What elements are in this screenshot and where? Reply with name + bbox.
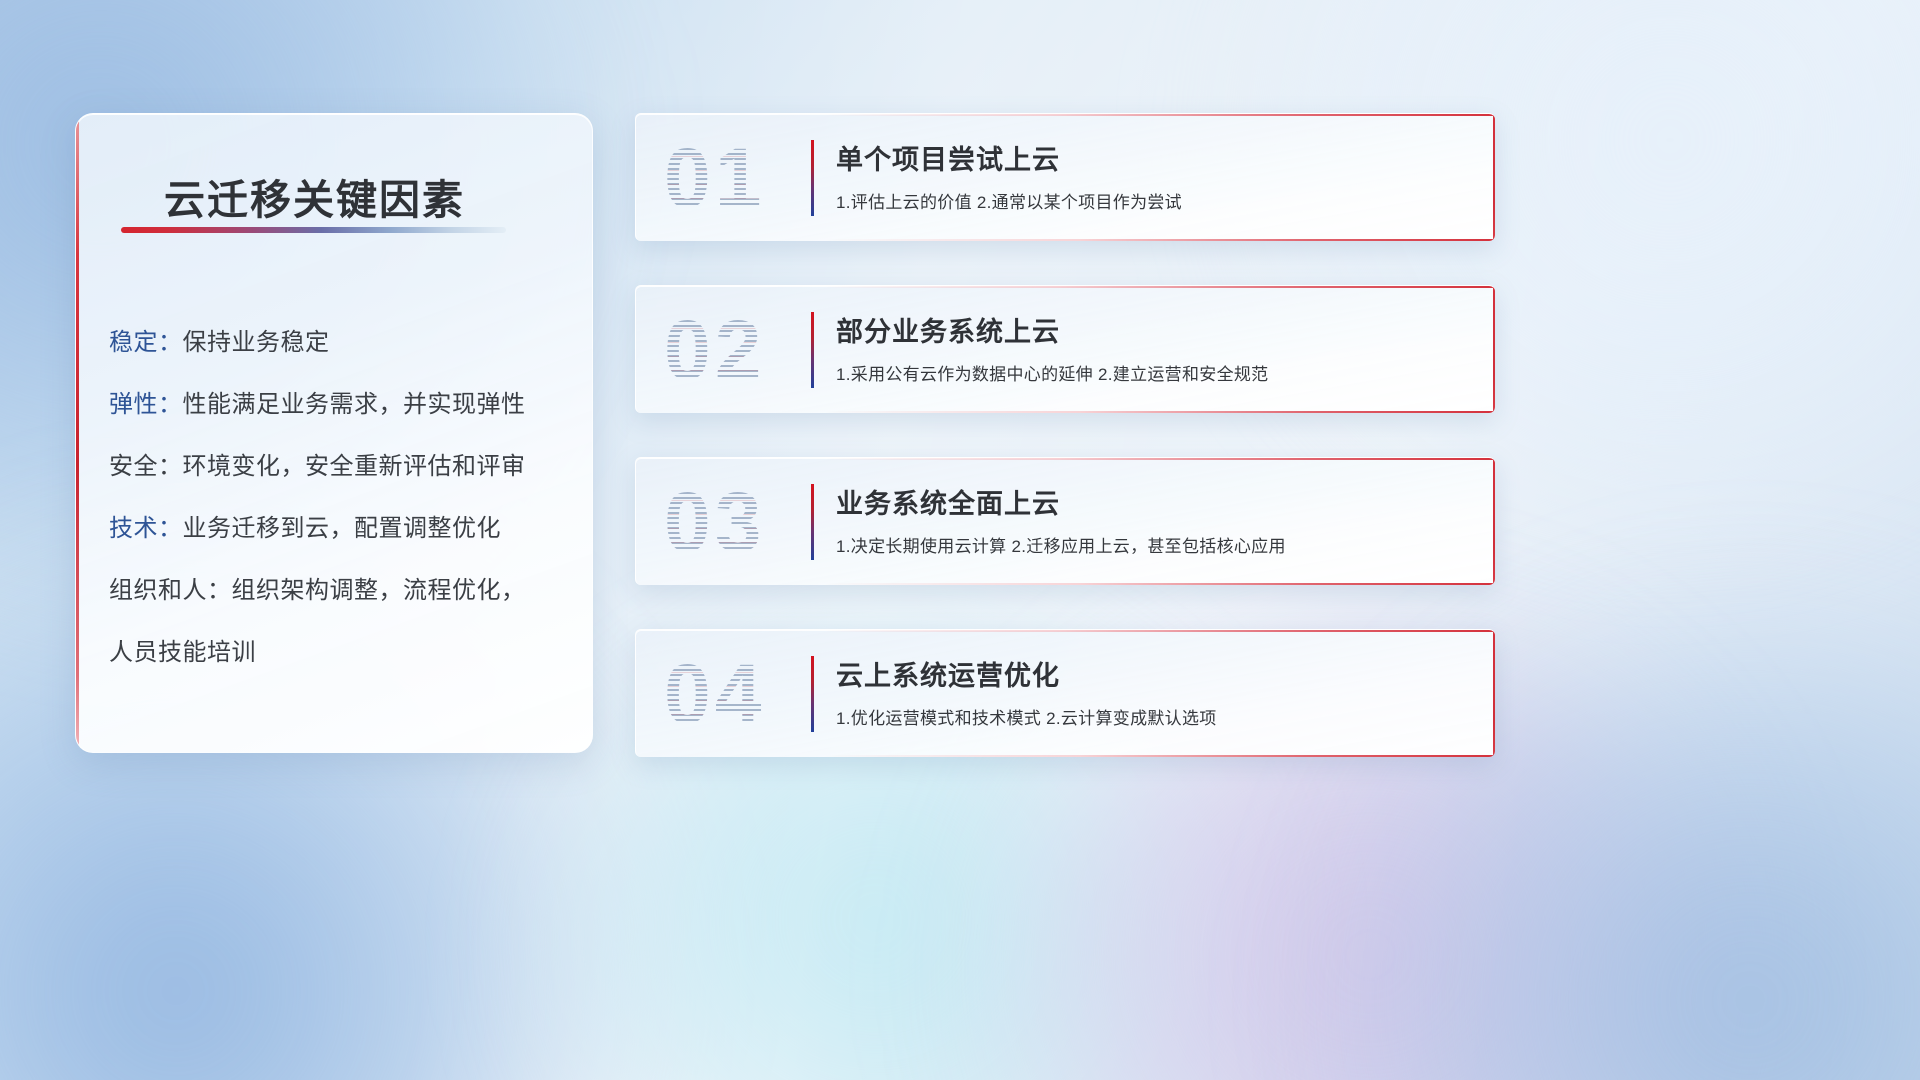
- card-03-edge-bottom: [825, 583, 1495, 585]
- panel-line-6-text: 人员技能培训: [109, 639, 256, 666]
- panel-line-3-text: 环境变化，安全重新评估和评审: [183, 453, 526, 480]
- card-02-edge-top: [825, 286, 1495, 288]
- panel-left-accent-bar: [76, 114, 79, 752]
- card-01-description: 1.评估上云的价值 2.通常以某个项目作为尝试: [836, 188, 1182, 213]
- panel-line-1: 稳定：保持业务稳定: [109, 322, 330, 357]
- panel-line-4-label: 技术：: [109, 515, 183, 542]
- card-04-title: 云上系统运营优化: [836, 654, 1060, 693]
- card-02-description: 1.采用公有云作为数据中心的延伸 2.建立运营和安全规范: [836, 360, 1268, 385]
- card-02-edge-bottom: [825, 411, 1495, 413]
- stage-card-03[interactable]: 03 03 业务系统全面上云 1.决定长期使用云计算 2.迁移应用上云，甚至包括…: [635, 457, 1495, 585]
- card-02-title: 部分业务系统上云: [836, 310, 1060, 349]
- stage-card-04[interactable]: 04 04 云上系统运营优化 1.优化运营模式和技术模式 2.云计算变成默认选项: [635, 629, 1495, 757]
- card-01-edge-right: [1493, 114, 1495, 241]
- card-01-divider: [811, 140, 814, 216]
- stage-card-02[interactable]: 02 02 部分业务系统上云 1.采用公有云作为数据中心的延伸 2.建立运营和安…: [635, 285, 1495, 413]
- card-04-number-tint: 04: [664, 644, 765, 744]
- panel-line-2-text: 性能满足业务需求，并实现弹性: [183, 391, 526, 418]
- card-03-description: 1.决定长期使用云计算 2.迁移应用上云，甚至包括核心应用: [836, 532, 1286, 557]
- card-02-number-tint: 02: [664, 300, 765, 400]
- stage-card-01[interactable]: 01 01 单个项目尝试上云 1.评估上云的价值 2.通常以某个项目作为尝试: [635, 113, 1495, 241]
- card-04-edge-right: [1493, 630, 1495, 757]
- card-01-number-tint: 01: [664, 128, 765, 228]
- panel-line-6: 人员技能培训: [109, 632, 256, 667]
- card-04-divider: [811, 656, 814, 732]
- panel-line-4-text: 业务迁移到云，配置调整优化: [183, 515, 502, 542]
- card-02-divider: [811, 312, 814, 388]
- panel-line-3: 安全：环境变化，安全重新评估和评审: [109, 446, 526, 481]
- panel-title: 云迁移关键因素: [164, 166, 465, 226]
- card-04-edge-top: [825, 630, 1495, 632]
- panel-line-5: 组织和人：组织架构调整，流程优化，: [109, 570, 526, 605]
- panel-line-2: 弹性：性能满足业务需求，并实现弹性: [109, 384, 526, 419]
- panel-line-5-text: 组织架构调整，流程优化，: [232, 577, 526, 604]
- card-04-edge-bottom: [825, 755, 1495, 757]
- panel-line-2-label: 弹性：: [109, 391, 183, 418]
- card-03-edge-top: [825, 458, 1495, 460]
- card-02-edge-right: [1493, 286, 1495, 413]
- card-01-edge-top: [825, 114, 1495, 116]
- card-03-number-tint: 03: [664, 472, 765, 572]
- panel-line-5-label: 组织和人：: [109, 577, 232, 604]
- card-01-title: 单个项目尝试上云: [836, 138, 1060, 177]
- panel-line-1-label: 稳定：: [109, 329, 183, 356]
- panel-title-underline: [121, 227, 506, 233]
- panel-line-1-text: 保持业务稳定: [183, 329, 330, 356]
- card-03-divider: [811, 484, 814, 560]
- card-03-edge-right: [1493, 458, 1495, 585]
- panel-line-4: 技术：业务迁移到云，配置调整优化: [109, 508, 501, 543]
- panel-line-3-label: 安全：: [109, 453, 183, 480]
- card-01-edge-bottom: [825, 239, 1495, 241]
- card-03-title: 业务系统全面上云: [836, 482, 1060, 521]
- key-factors-panel: 云迁移关键因素 稳定：保持业务稳定 弹性：性能满足业务需求，并实现弹性 安全：环…: [75, 113, 593, 753]
- card-04-description: 1.优化运营模式和技术模式 2.云计算变成默认选项: [836, 704, 1217, 729]
